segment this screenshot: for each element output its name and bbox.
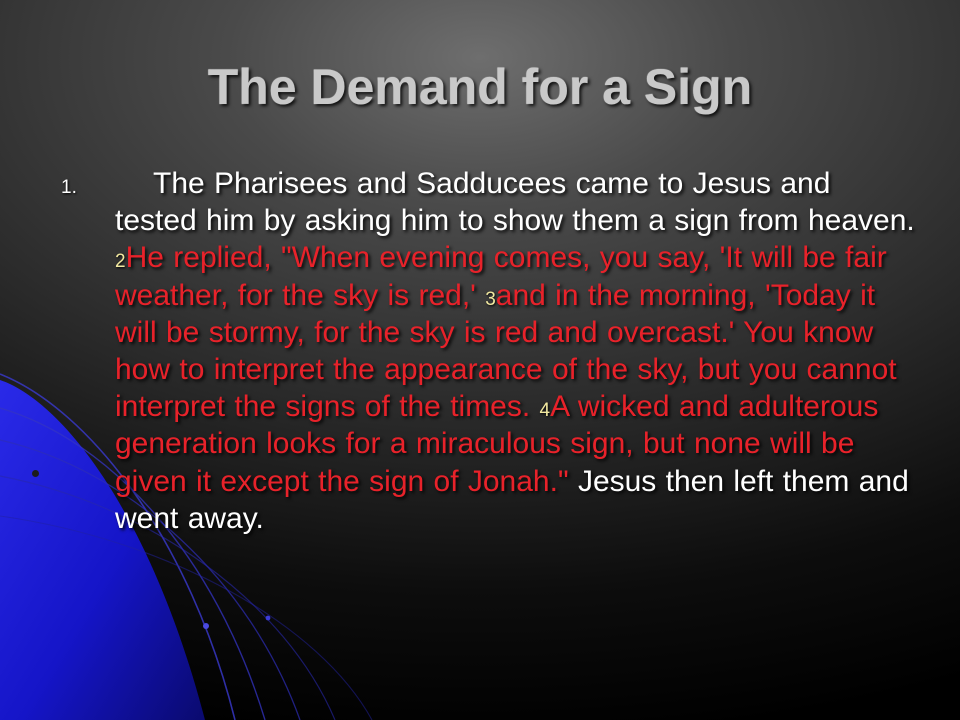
slide-canvas: The Demand for a Sign 1. The Pharisees a… [0,0,960,720]
list-marker: 1. [61,177,77,199]
verse-4-number: 4 [540,400,551,421]
slide-body: 1. The Pharisees and Sadducees came to J… [55,165,915,537]
page-title: The Demand for a Sign [0,58,960,116]
scripture-paragraph: The Pharisees and Sadducees came to Jesu… [115,165,915,537]
list-item: 1. The Pharisees and Sadducees came to J… [55,165,915,537]
verse-3-number: 3 [485,289,496,310]
decorative-dot [32,470,39,477]
verse-1-text: The Pharisees and Sadducees came to Jesu… [115,167,915,237]
verse-2-number: 2 [115,251,126,272]
